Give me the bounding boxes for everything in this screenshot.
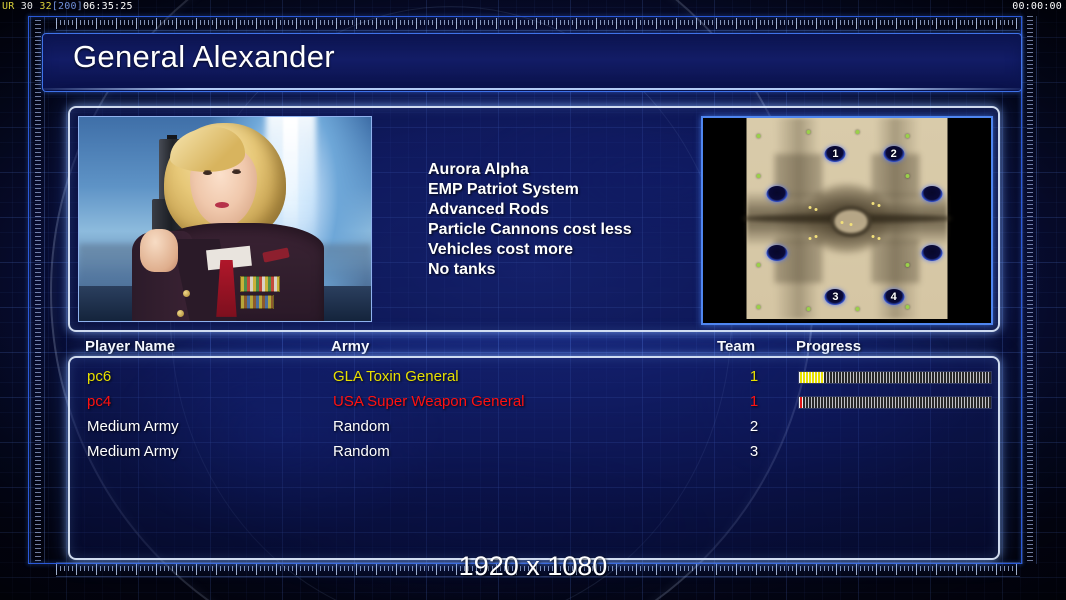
- map-resource-dot: [757, 305, 761, 309]
- general-portrait: [78, 116, 372, 322]
- portrait-medal-ribbons-secondary: [240, 295, 274, 309]
- map-supply-pip: [877, 237, 880, 240]
- cell-player-name: pc4: [87, 389, 111, 414]
- debug-seg-2: 30: [21, 1, 33, 12]
- ruler-top: [56, 16, 1020, 31]
- general-abilities-list: Aurora Alpha EMP Patriot System Advanced…: [428, 160, 728, 280]
- map-start-position[interactable]: [767, 245, 788, 261]
- column-header-army: Army: [331, 338, 369, 355]
- column-header-player-name: Player Name: [85, 338, 175, 355]
- player-list-panel: pc6GLA Toxin General1pc4USA Super Weapon…: [68, 356, 1000, 560]
- player-rows: pc6GLA Toxin General1pc4USA Super Weapon…: [70, 364, 998, 464]
- table-row[interactable]: pc6GLA Toxin General1: [70, 364, 998, 389]
- progress-bar: [798, 371, 992, 384]
- map-preview[interactable]: 1 2 3 4: [701, 116, 993, 325]
- progress-bar-fill: [799, 372, 824, 383]
- map-start-position[interactable]: [921, 245, 942, 261]
- map-resource-dot: [905, 134, 909, 138]
- cell-army: Random: [333, 414, 390, 439]
- debug-seg-3: 32: [39, 1, 51, 12]
- frame-left: [28, 16, 29, 564]
- cell-team: 1: [742, 389, 766, 414]
- debug-seg-4: [200]: [52, 1, 83, 12]
- map-supply-pip: [849, 223, 852, 226]
- cell-army: USA Super Weapon General: [333, 389, 525, 414]
- debug-seg-5: 06:35:25: [83, 1, 133, 12]
- map-center-feature: [831, 206, 871, 236]
- frame-right: [1021, 16, 1022, 564]
- portrait-uniform-button-2: [177, 310, 184, 317]
- portrait-hand: [140, 229, 178, 272]
- table-row[interactable]: Medium ArmyRandom3: [70, 439, 998, 464]
- cell-army: GLA Toxin General: [333, 364, 459, 389]
- map-resource-dot: [757, 263, 761, 267]
- cell-team: 1: [742, 364, 766, 389]
- portrait-medal-ribbons: [240, 276, 280, 292]
- ability-item: Vehicles cost more: [428, 240, 728, 260]
- general-info-panel: Aurora Alpha EMP Patriot System Advanced…: [68, 106, 1000, 332]
- title-panel: General Alexander: [42, 33, 1022, 92]
- ability-item: Aurora Alpha: [428, 160, 728, 180]
- progress-bar: [798, 396, 992, 409]
- progress-bar-track: [799, 397, 991, 408]
- portrait-uniform-button-1: [183, 290, 190, 297]
- cell-player-name: Medium Army: [87, 439, 179, 464]
- progress-bar-fill: [799, 397, 803, 408]
- frame-top: [28, 16, 1022, 17]
- game-loading-screen: UR 30 32[200]06:35:25 00:00:00 General A…: [0, 0, 1066, 600]
- map-terrain: 1 2 3 4: [747, 118, 948, 319]
- title-underline: [42, 88, 1020, 90]
- ability-item: EMP Patriot System: [428, 180, 728, 200]
- ruler-left: [30, 16, 45, 564]
- debug-seg-1: UR: [2, 1, 14, 12]
- table-row[interactable]: Medium ArmyRandom2: [70, 414, 998, 439]
- map-start-position[interactable]: 4: [883, 289, 904, 305]
- cell-team: 3: [742, 439, 766, 464]
- ruler-right: [1022, 16, 1037, 564]
- map-resource-dot: [905, 305, 909, 309]
- column-header-team: Team: [717, 338, 755, 355]
- map-supply-pip: [871, 235, 874, 238]
- debug-network-stats: UR 30 32[200]06:35:25: [2, 0, 133, 13]
- table-row[interactable]: pc4USA Super Weapon General1: [70, 389, 998, 414]
- ability-item: Advanced Rods: [428, 200, 728, 220]
- portrait-lips: [215, 202, 229, 208]
- game-timer: 00:00:00: [1012, 0, 1062, 13]
- ability-item: Particle Cannons cost less: [428, 220, 728, 240]
- map-resource-dot: [855, 130, 859, 134]
- ability-item: No tanks: [428, 260, 728, 280]
- cell-player-name: pc6: [87, 364, 111, 389]
- resolution-label: 1920 x 1080: [0, 551, 1066, 582]
- cell-player-name: Medium Army: [87, 414, 179, 439]
- map-supply-pip: [809, 237, 812, 240]
- map-resource-dot: [855, 307, 859, 311]
- cell-army: Random: [333, 439, 390, 464]
- map-resource-dot: [905, 263, 909, 267]
- map-start-position[interactable]: 2: [883, 146, 904, 162]
- player-table-header: Player Name Army Team Progress: [68, 338, 996, 358]
- progress-bar-track: [799, 372, 991, 383]
- cell-team: 2: [742, 414, 766, 439]
- page-title: General Alexander: [73, 39, 335, 75]
- column-header-progress: Progress: [796, 338, 861, 355]
- debug-status-bar: UR 30 32[200]06:35:25 00:00:00: [0, 0, 1066, 13]
